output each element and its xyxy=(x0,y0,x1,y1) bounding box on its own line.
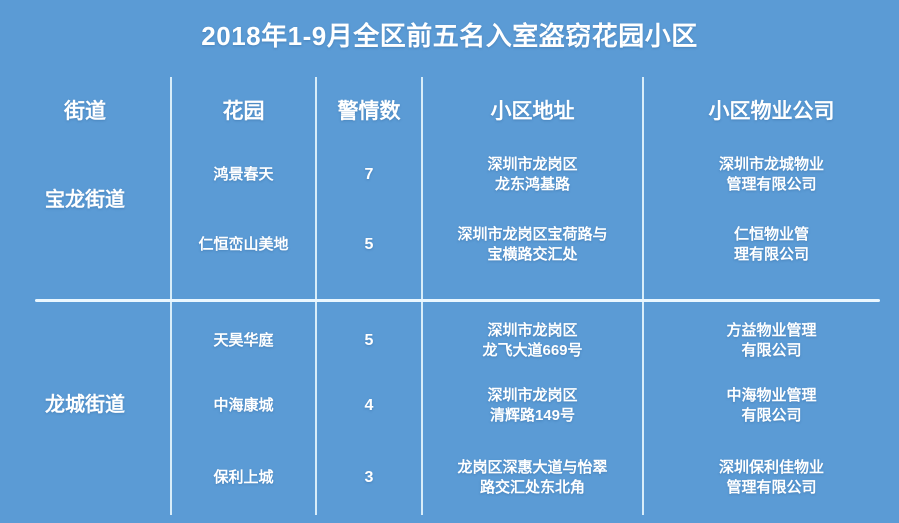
column-header-garden: 花园 xyxy=(172,92,315,132)
street-name-section-1: 宝龙街道 xyxy=(0,175,170,225)
table-row: 深圳市龙岗区宝荷路与 宝横路交汇处 xyxy=(423,222,642,268)
table-row: 仁恒峦山美地 xyxy=(172,222,315,268)
table-row: 方益物业管理 有限公司 xyxy=(644,318,899,364)
street-name-section-2: 龙城街道 xyxy=(0,380,170,430)
table-row: 深圳市龙城物业 管理有限公司 xyxy=(644,152,899,198)
section-divider xyxy=(35,299,880,302)
table-row: 深圳市龙岗区 龙飞大道669号 xyxy=(423,318,642,364)
infographic-table: 2018年1-9月全区前五名入室盗窃花园小区 街道 花园 警情数 小区地址 小区… xyxy=(0,0,899,523)
table-row: 5 xyxy=(317,318,421,364)
table-row: 5 xyxy=(317,222,421,268)
table-row: 深圳市龙岗区 龙东鸿基路 xyxy=(423,152,642,198)
table-row: 4 xyxy=(317,383,421,429)
table-row: 天昊华庭 xyxy=(172,318,315,364)
table-row: 深圳市龙岗区 清辉路149号 xyxy=(423,383,642,429)
table-row: 保利上城 xyxy=(172,455,315,501)
column-header-address: 小区地址 xyxy=(423,92,642,132)
column-divider-1 xyxy=(170,77,172,515)
table-row: 中海物业管理 有限公司 xyxy=(644,383,899,429)
table-row: 7 xyxy=(317,152,421,198)
table-row: 深圳保利佳物业 管理有限公司 xyxy=(644,455,899,501)
column-header-count: 警情数 xyxy=(317,92,421,132)
table-row: 鸿景春天 xyxy=(172,152,315,198)
column-divider-2 xyxy=(315,77,317,515)
table-row: 中海康城 xyxy=(172,383,315,429)
table-row: 仁恒物业管 理有限公司 xyxy=(644,222,899,268)
page-title: 2018年1-9月全区前五名入室盗窃花园小区 xyxy=(0,16,899,53)
column-divider-3 xyxy=(421,77,423,515)
table-row: 3 xyxy=(317,455,421,501)
table-row: 龙岗区深惠大道与怡翠 路交汇处东北角 xyxy=(423,455,642,501)
column-header-company: 小区物业公司 xyxy=(644,92,899,132)
column-header-street: 街道 xyxy=(0,92,170,132)
column-divider-4 xyxy=(642,77,644,515)
